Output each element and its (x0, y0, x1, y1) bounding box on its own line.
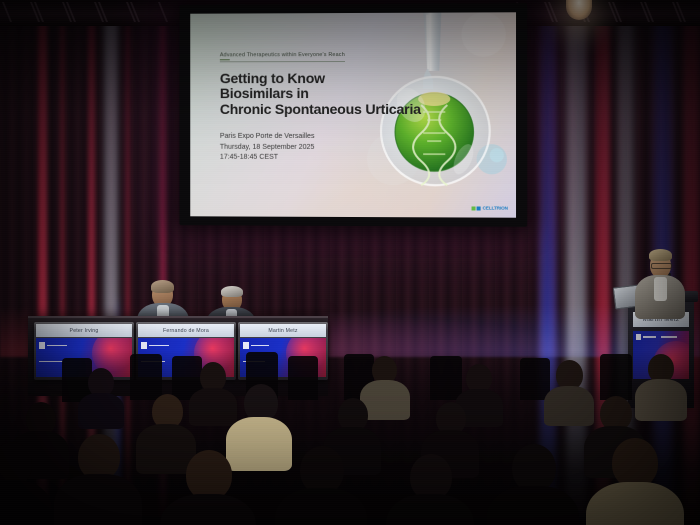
lectern-logos (636, 334, 677, 340)
slide-text-block: Advanced Therapeutics within Everyone's … (220, 43, 449, 164)
panelist-hair-icon (221, 286, 243, 297)
slide-tagline-rest: anced Therapeutics within Everyone's Rea… (230, 52, 345, 58)
nameplate-1-text: Peter Irving (70, 328, 99, 334)
slide-tagline-underline: Adv (220, 52, 230, 60)
logo-chip-icon (243, 342, 249, 349)
conference-photo: Advanced Therapeutics within Everyone's … (0, 0, 700, 525)
speaker-shirt (654, 277, 667, 301)
logo-chip-icon (636, 334, 641, 340)
brand-square-blue-icon (477, 206, 481, 210)
seat-back (600, 354, 632, 400)
seat-back (430, 356, 462, 400)
panelist-hair-icon (151, 280, 174, 293)
slide-details: Paris Expo Porte de Versailles Thursday,… (220, 131, 449, 163)
speaker-hair-icon (649, 249, 672, 261)
nameplate-2-text: Fernando de Mora (163, 328, 209, 334)
seat-back (288, 356, 318, 400)
lectern-logo-right (661, 334, 677, 340)
slide-brand-text: CELLTRION (483, 206, 508, 211)
projection-screen-frame: Advanced Therapeutics within Everyone's … (179, 3, 527, 227)
slide-headline: Getting to Know Biosimilars in Chronic S… (220, 71, 449, 118)
nameplate-2: Fernando de Mora (138, 324, 234, 337)
slide-tagline: Advanced Therapeutics within Everyone's … (220, 52, 345, 62)
slide-brand-logo: CELLTRION (471, 205, 507, 210)
nameplate-1: Peter Irving (36, 324, 132, 337)
projection-screen: Advanced Therapeutics within Everyone's … (190, 12, 516, 217)
logo-chip-icon (141, 342, 147, 349)
nameplate-3-text: Martin Metz (268, 328, 297, 334)
seat-back (520, 358, 550, 400)
logo-chip-icon (39, 342, 45, 349)
brand-square-green-icon (471, 206, 475, 210)
speaker-glasses-icon (651, 263, 672, 269)
audience (0, 350, 700, 525)
nameplate-3: Martin Metz (240, 324, 326, 337)
seat-back (130, 354, 162, 400)
lectern-logo-left (636, 334, 656, 340)
